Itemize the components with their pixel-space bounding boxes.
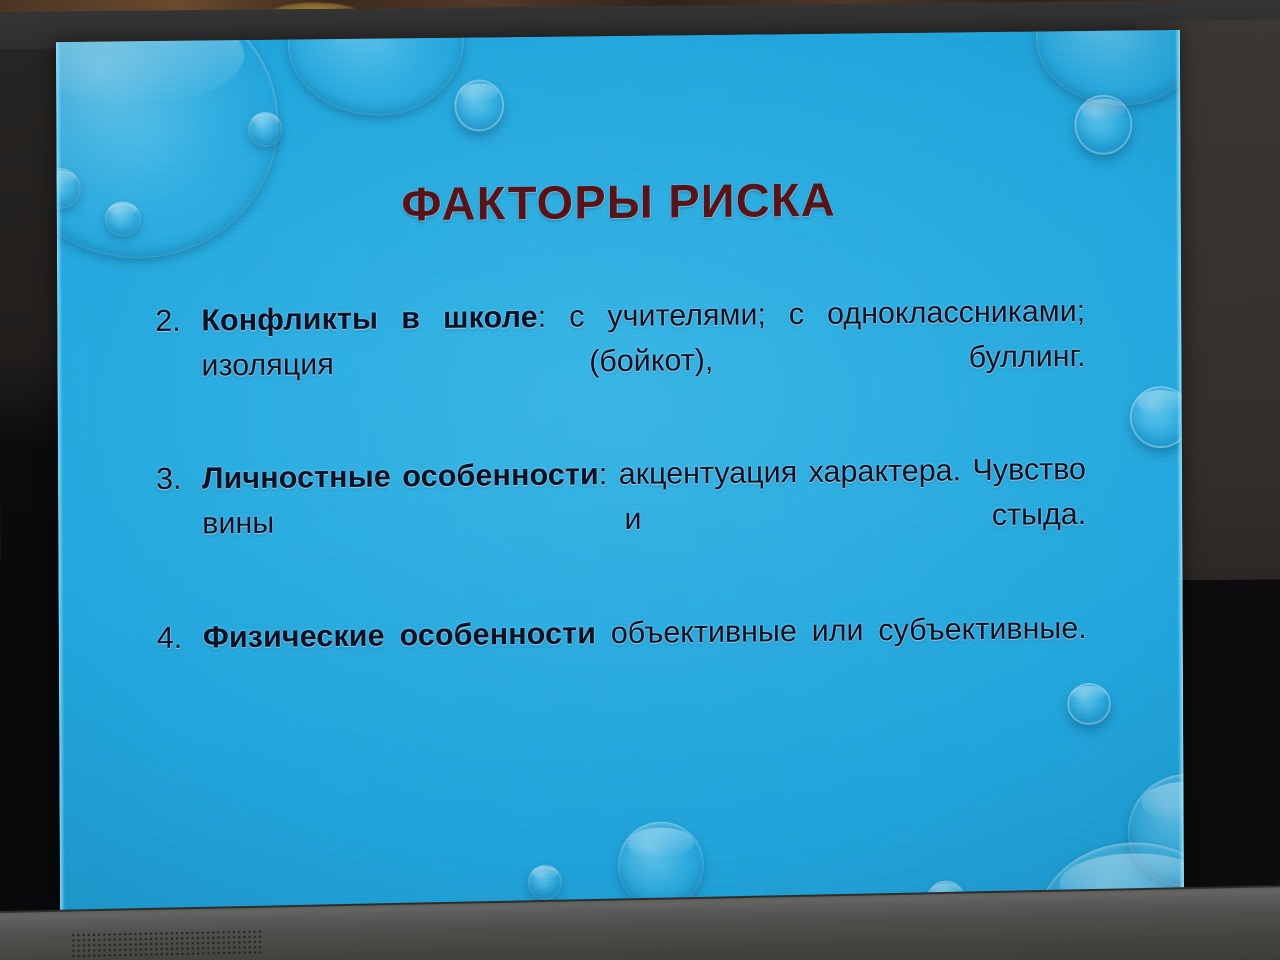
- list-item-text: объективные или субъективные.: [596, 611, 1087, 650]
- list-item-number: 2.: [155, 299, 197, 344]
- slide-title: ФАКТОРЫ РИСКА: [57, 168, 1181, 235]
- slide-bullet-list: 2. Конфликты в школе: с учителями; с одн…: [139, 289, 1087, 730]
- slide-content: ФАКТОРЫ РИСКА 2. Конфликты в школе: с уч…: [56, 30, 1184, 916]
- list-item-bold-lead: Физические особенности: [203, 616, 596, 654]
- list-item-bold-lead: Конфликты в школе: [201, 300, 538, 338]
- list-item: 3. Личностные особенности: акцентуация х…: [140, 447, 1087, 592]
- list-item-number: 4.: [157, 616, 199, 661]
- list-item: 4. Физические особенности объективные ил…: [141, 606, 1087, 706]
- list-item: 2. Конфликты в школе: с учителями; с одн…: [139, 289, 1086, 434]
- speaker-grille-icon: [72, 930, 262, 960]
- list-item-bold-lead: Личностные особенности: [202, 458, 599, 496]
- list-item-number: 3.: [156, 457, 198, 502]
- screenshot-root: ФАКТОРЫ РИСКА 2. Конфликты в школе: с уч…: [0, 0, 1280, 960]
- presentation-slide[interactable]: ФАКТОРЫ РИСКА 2. Конфликты в школе: с уч…: [56, 30, 1184, 916]
